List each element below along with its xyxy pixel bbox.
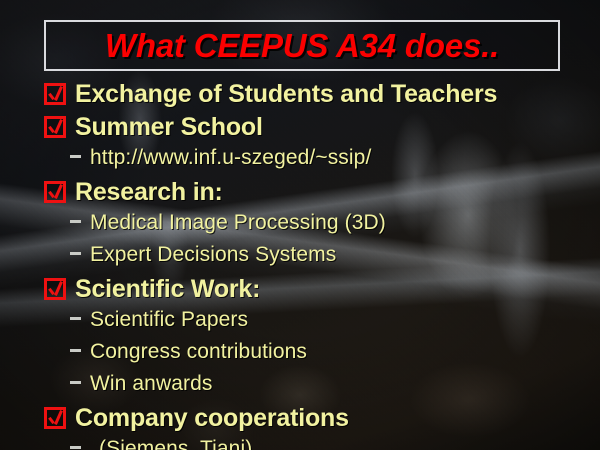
dash-icon xyxy=(70,317,81,320)
sub-bullet-item: (Siemens, Tiani) xyxy=(0,437,600,450)
bullet-text: Exchange of Students and Teachers xyxy=(75,80,497,109)
sub-bullet-text: Scientific Papers xyxy=(90,308,248,332)
sub-bullet-text: http://www.inf.u-szeged/~ssip/ xyxy=(90,146,371,170)
sub-bullet-text: Congress contributions xyxy=(90,340,307,364)
bullet-text: Summer School xyxy=(75,113,263,142)
bullet-text: Research in: xyxy=(75,178,223,207)
bullet-text: Company cooperations xyxy=(75,404,349,433)
checkbox-checked-icon xyxy=(44,407,66,429)
dash-icon xyxy=(70,252,81,255)
sub-bullet-item: Medical Image Processing (3D) xyxy=(0,211,600,243)
sub-bullet-item: Scientific Papers xyxy=(0,308,600,340)
sub-bullet-item: Congress contributions xyxy=(0,340,600,372)
presentation-slide: What CEEPUS A34 does.. Exchange of Stude… xyxy=(0,0,600,450)
checkbox-checked-icon xyxy=(44,83,66,105)
sub-bullet-text: Expert Decisions Systems xyxy=(90,243,336,267)
sub-bullet-item: http://www.inf.u-szeged/~ssip/ xyxy=(0,146,600,178)
checkbox-checked-icon xyxy=(44,116,66,138)
bullet-item: Company cooperations xyxy=(0,404,600,437)
dash-icon xyxy=(70,381,81,384)
checkbox-checked-icon xyxy=(44,181,66,203)
dash-icon xyxy=(70,349,81,352)
sub-bullet-text: Medical Image Processing (3D) xyxy=(90,211,386,235)
dash-icon xyxy=(70,446,81,449)
bullet-item: Summer School xyxy=(0,113,600,146)
dash-icon xyxy=(70,155,81,158)
slide-title: What CEEPUS A34 does.. xyxy=(105,27,499,65)
sub-bullet-item: Win anwards xyxy=(0,372,600,404)
bullet-item: Research in: xyxy=(0,178,600,211)
bullet-text: Scientific Work: xyxy=(75,275,260,304)
sub-bullet-text: Win anwards xyxy=(90,372,212,396)
sub-bullet-text: (Siemens, Tiani) xyxy=(99,437,252,450)
dash-icon xyxy=(70,220,81,223)
slide-title-box: What CEEPUS A34 does.. xyxy=(44,20,560,71)
sub-bullet-item: Expert Decisions Systems xyxy=(0,243,600,275)
slide-bullet-list: Exchange of Students and TeachersSummer … xyxy=(0,80,600,450)
checkbox-checked-icon xyxy=(44,278,66,300)
bullet-item: Scientific Work: xyxy=(0,275,600,308)
bullet-item: Exchange of Students and Teachers xyxy=(0,80,600,113)
